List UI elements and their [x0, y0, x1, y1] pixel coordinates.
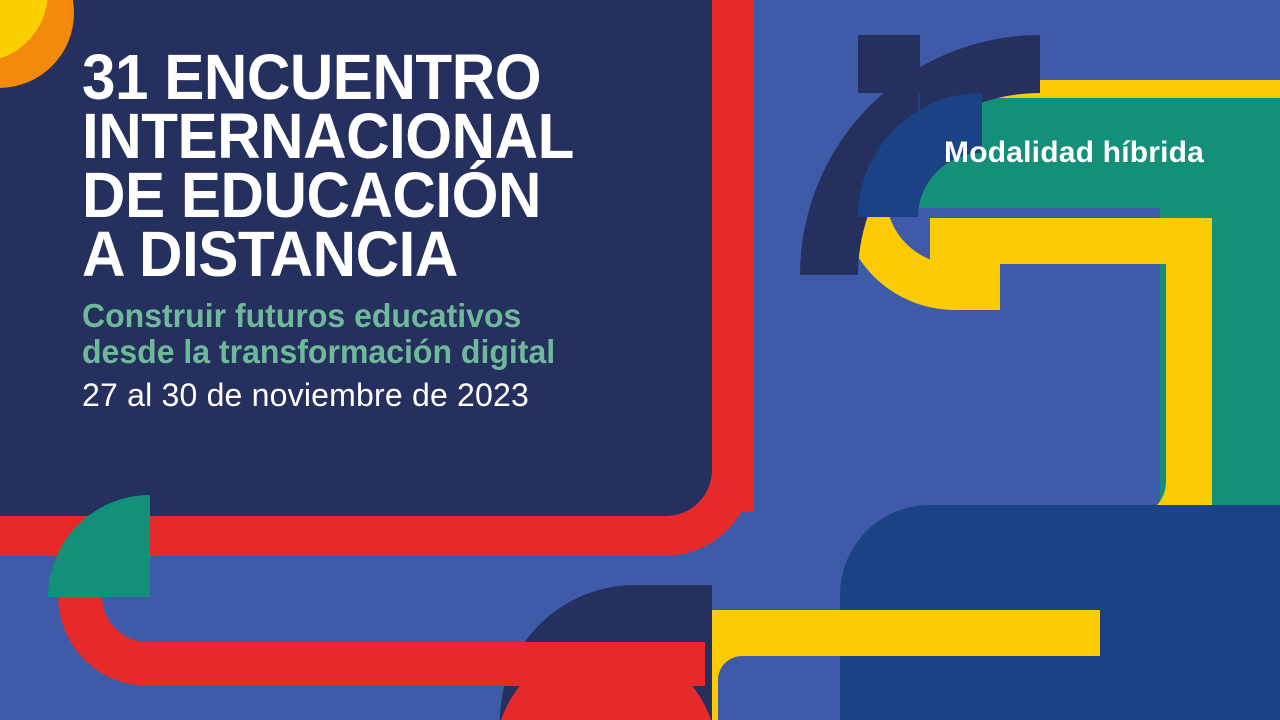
event-dates: 27 al 30 de noviembre de 2023: [82, 377, 702, 414]
page-title: 31 ENCUENTRO INTERNACIONAL DE EDUCACIÓN …: [82, 48, 665, 284]
deep-blue-ring-nub: [918, 93, 920, 155]
modality-badge-label: Modalidad híbrida: [944, 136, 1204, 170]
red-track-vertical-run: [710, 0, 754, 512]
navy-ring-square-nub: [858, 35, 920, 93]
headline-text-block: 31 ENCUENTRO INTERNACIONAL DE EDUCACIÓN …: [82, 48, 702, 414]
page-subtitle: Construir futuros educativos desde la tr…: [82, 298, 683, 372]
poster-canvas: 31 ENCUENTRO INTERNACIONAL DE EDUCACIÓN …: [0, 0, 1280, 720]
